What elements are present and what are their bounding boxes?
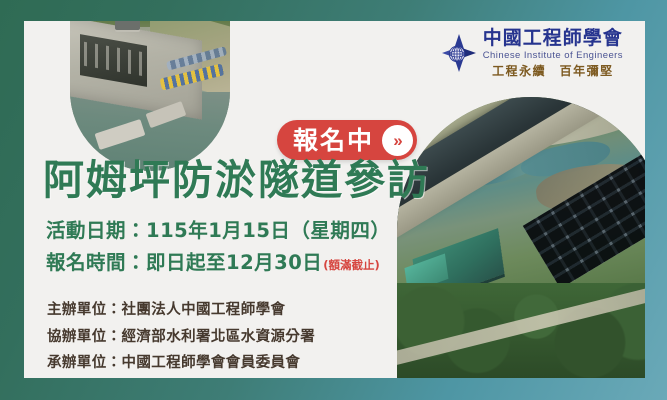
organizer-host: 主辦單位：社團法人中國工程師學會 [47, 297, 315, 324]
compass-globe-emblem-icon [442, 34, 476, 72]
cie-logo: 中國工程師學會 Chinese Institute of Engineers 工… [442, 29, 623, 77]
registration-open-badge[interactable]: 報名中 » [277, 120, 417, 160]
registration-period-line: 報名時間：即日起至12月30日(額滿截止) [46, 247, 390, 279]
photo-left-control-hut [115, 21, 141, 30]
event-date-text: 活動日期：115年1月15日（星期四） [46, 219, 390, 242]
event-poster: 中國工程師學會 Chinese Institute of Engineers 工… [0, 0, 667, 400]
organizer-executor: 承辦單位：中國工程師學會會員委員會 [47, 350, 315, 377]
registration-period-note: (額滿截止) [323, 258, 380, 272]
event-info: 活動日期：115年1月15日（星期四） 報名時間：即日起至12月30日(額滿截止… [46, 215, 390, 278]
amuping-desilting-intake-photo [70, 21, 230, 171]
poster-card: 中國工程師學會 Chinese Institute of Engineers 工… [24, 21, 645, 378]
organizer-coorganizer: 協辦單位：經濟部水利署北區水資源分署 [47, 324, 315, 351]
amuping-desilting-outlet-photo [397, 97, 645, 378]
registration-period-text: 報名時間：即日起至12月30日 [46, 251, 322, 274]
double-chevron-right-icon: » [393, 132, 402, 149]
cie-logo-text: 中國工程師學會 Chinese Institute of Engineers 工… [483, 29, 623, 77]
cie-name-cn: 中國工程師學會 [483, 29, 623, 48]
badge-arrow-circle: » [382, 125, 413, 156]
organizer-list: 主辦單位：社團法人中國工程師學會 協辦單位：經濟部水利署北區水資源分署 承辦單位… [47, 297, 315, 377]
registration-open-label: 報名中 [293, 128, 374, 153]
page-title: 阿姆坪防淤隧道參訪 [43, 159, 430, 202]
cie-slogan: 工程永續 百年彌堅 [483, 65, 623, 77]
event-date-line: 活動日期：115年1月15日（星期四） [46, 215, 390, 247]
cie-name-en: Chinese Institute of Engineers [483, 51, 623, 61]
